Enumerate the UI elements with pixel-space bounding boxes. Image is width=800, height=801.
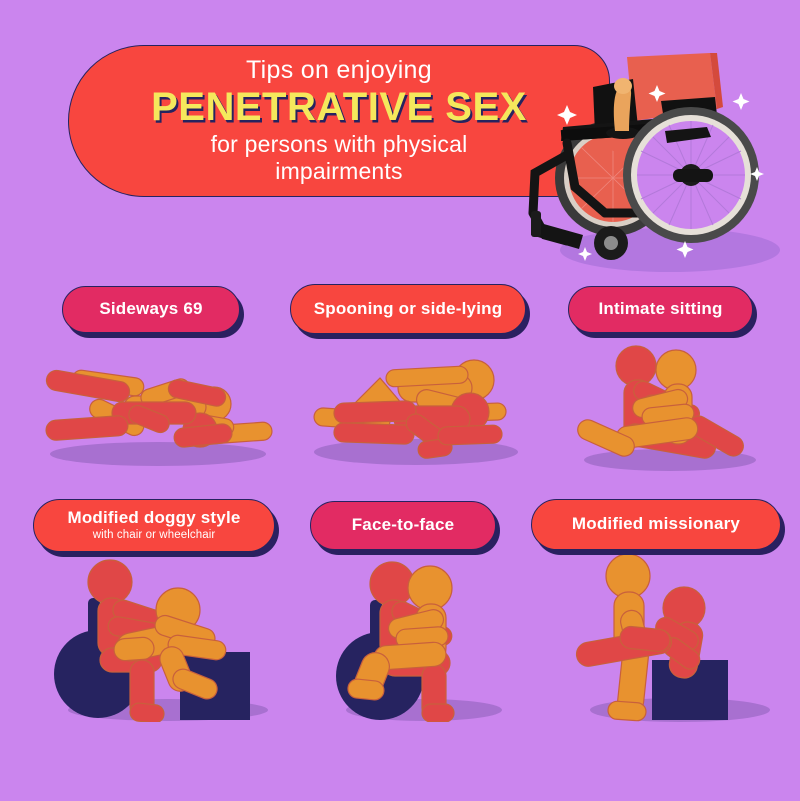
position-label-spooning-or-side-lying[interactable]: Spooning or side-lying — [290, 284, 526, 334]
illustration-modified-missionary — [568, 552, 784, 722]
wheelchair-icon — [505, 35, 800, 275]
header-subtitle: for persons with physical impairments — [211, 131, 468, 185]
pill-label: Sideways 69 — [99, 300, 202, 319]
position-label-modified-doggy-style[interactable]: Modified doggy style with chair or wheel… — [33, 499, 275, 552]
infographic-canvas: Tips on enjoying PENETRATIVE SEX for per… — [0, 0, 800, 801]
position-label-face-to-face[interactable]: Face-to-face — [310, 501, 496, 550]
position-label-sideways-69[interactable]: Sideways 69 — [62, 286, 240, 333]
position-label-modified-missionary[interactable]: Modified missionary — [531, 499, 781, 550]
pill-label: Intimate sitting — [598, 300, 722, 319]
illustration-intimate-sitting — [566, 342, 772, 474]
pill-label: Modified doggy style — [67, 509, 240, 528]
illustration-face-to-face — [318, 552, 524, 722]
header-subtitle-line1: for persons with physical — [211, 131, 468, 158]
page-title: PENETRATIVE SEX — [151, 86, 527, 128]
header-subtitle-line2: impairments — [211, 158, 468, 185]
pill-sublabel: with chair or wheelchair — [93, 529, 216, 542]
position-label-intimate-sitting[interactable]: Intimate sitting — [568, 286, 753, 333]
pill-label: Spooning or side-lying — [314, 300, 503, 319]
illustration-spooning — [298, 348, 534, 470]
illustration-sideways-69 — [28, 348, 284, 470]
header-eyebrow: Tips on enjoying — [246, 57, 432, 83]
illustration-modified-doggy-style — [38, 552, 284, 722]
pill-label: Modified missionary — [572, 515, 740, 534]
pill-label: Face-to-face — [352, 516, 455, 535]
